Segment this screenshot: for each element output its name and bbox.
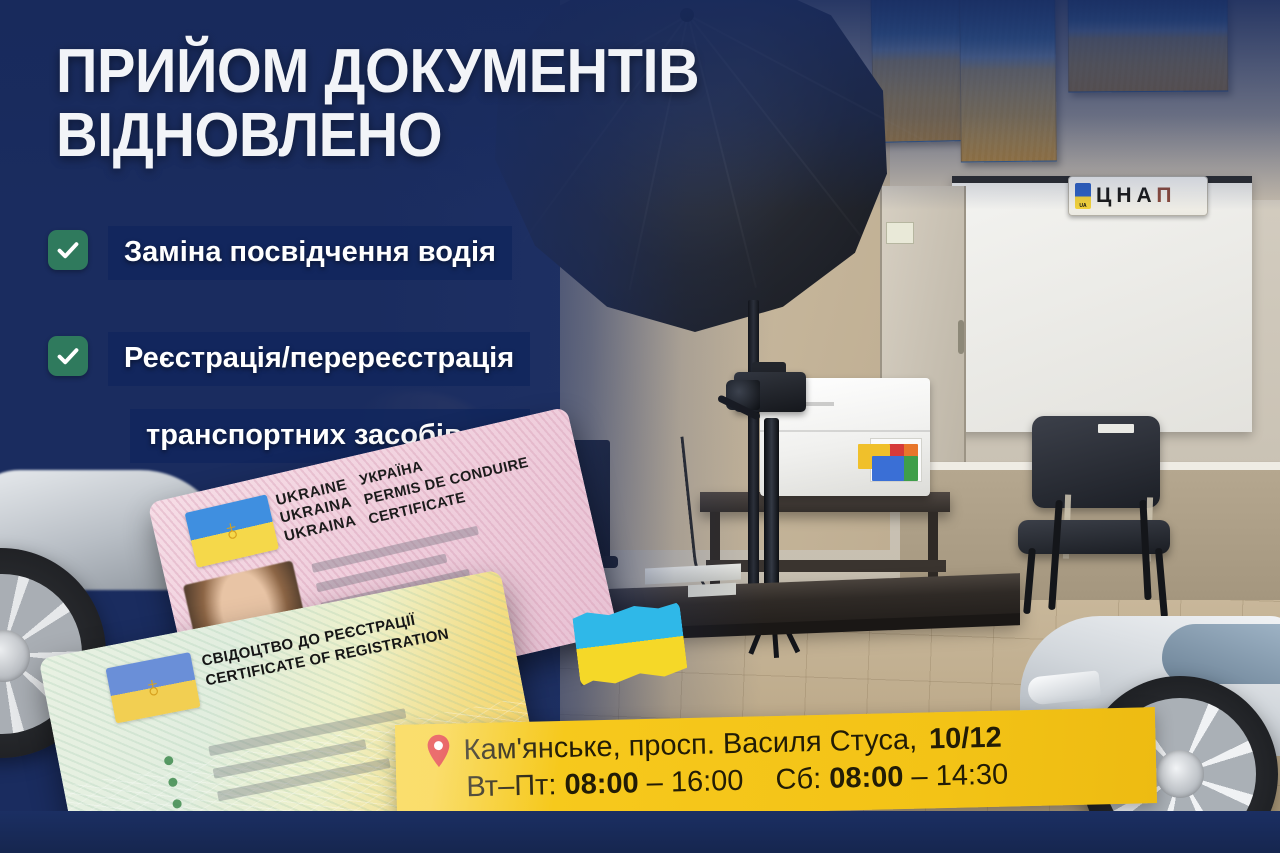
services-list: Заміна посвідчення водія Реєстрація/пере… (48, 226, 688, 463)
map-pin-icon (425, 734, 452, 769)
weekday-label: Вт–Пт: (466, 769, 557, 803)
saturday-label: Сб: (775, 763, 821, 796)
check-icon (48, 336, 88, 376)
address-text: Кам'янське, просп. Василя Стуса, (463, 723, 917, 766)
address-hours-banner: Кам'янське, просп. Василя Стуса, 10/12 В… (395, 707, 1157, 821)
poster-canvas: UA ЦНАП (0, 0, 1280, 853)
service-label-group: Реєстрація/перереєстрація транспортних з… (108, 332, 530, 463)
service-label: Заміна посвідчення водія (108, 226, 512, 280)
headline-line-2: ВІДНОВЛЕНО (56, 104, 819, 168)
check-icon (48, 230, 88, 270)
weekday-close-time: 16:00 (671, 765, 744, 799)
list-item: Реєстрація/перереєстрація транспортних з… (48, 332, 688, 463)
saturday-dash: – (911, 760, 928, 792)
bottom-navy-strip (0, 811, 1280, 853)
list-item: Заміна посвідчення водія (48, 226, 688, 280)
service-label-continued: транспортних засобів (130, 409, 530, 463)
weekday-open-time: 08:00 (564, 767, 639, 801)
weekday-dash: – (646, 767, 663, 799)
saturday-open-time: 08:00 (829, 761, 904, 795)
address-building-number: 10/12 (929, 721, 1002, 755)
headline-line-1: ПРИЙОМ ДОКУМЕНТІВ (56, 37, 699, 106)
service-label: Реєстрація/перереєстрація (108, 332, 530, 386)
saturday-close-time: 14:30 (935, 759, 1008, 793)
service-label-group: Заміна посвідчення водія (108, 226, 512, 280)
page-title: ПРИЙОМ ДОКУМЕНТІВ ВІДНОВЛЕНО (56, 40, 819, 169)
